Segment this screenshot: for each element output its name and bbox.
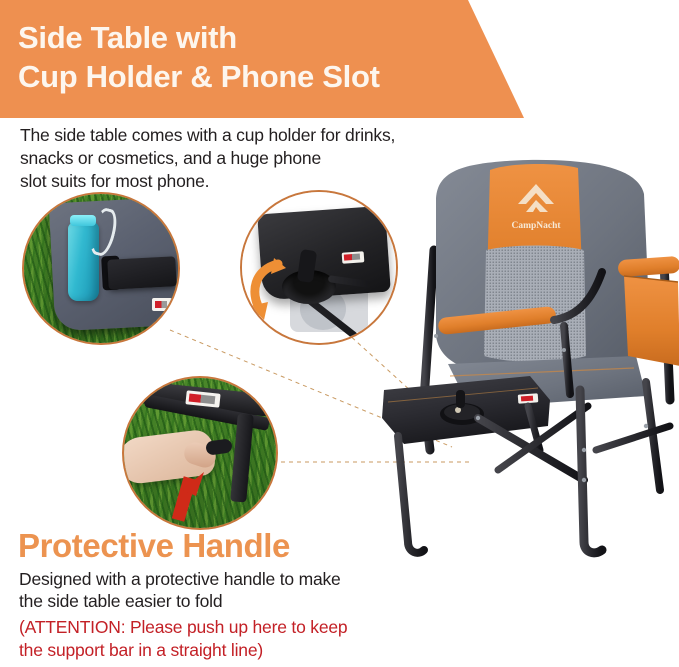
- protective-handle-knob: [456, 390, 465, 408]
- protective-handle-attention-note: (ATTENTION: Please push up here to keep …: [19, 616, 459, 662]
- attention-note-line-1: (ATTENTION: Please push up here to keep: [19, 616, 459, 639]
- bottle-cap: [70, 215, 96, 226]
- product-photo-camping-chair: CampNacht: [378, 150, 679, 570]
- infographic-canvas: Side Table with Cup Holder & Phone Slot …: [0, 0, 679, 667]
- detail-photo-protective-handle: [122, 376, 278, 530]
- chair-rear-brace: [596, 426, 670, 450]
- protective-handle-title: Protective Handle: [18, 527, 438, 565]
- brand-logo-text: CampNacht: [511, 221, 561, 231]
- rotation-arrow-icon: [244, 258, 290, 322]
- attention-note-line-2: the support bar in a straight line): [19, 639, 459, 662]
- smartphone: [107, 256, 176, 290]
- protective-handle-body-line-1: Designed with a protective handle to mak…: [19, 568, 449, 590]
- detail-photo-cup-holder: [22, 192, 180, 345]
- chair-side-pocket: [624, 276, 679, 366]
- detail-photo-folding-table: [240, 190, 398, 345]
- warning-label-2: [342, 251, 365, 264]
- chair-mesh-panel: [484, 246, 586, 363]
- warning-label-1: [152, 298, 172, 311]
- push-up-arrow-icon: [160, 450, 210, 522]
- chair-front-leg: [580, 390, 602, 553]
- protective-handle-body: Designed with a protective handle to mak…: [19, 568, 449, 612]
- protective-handle-body-line-2: the side table easier to fold: [19, 590, 449, 612]
